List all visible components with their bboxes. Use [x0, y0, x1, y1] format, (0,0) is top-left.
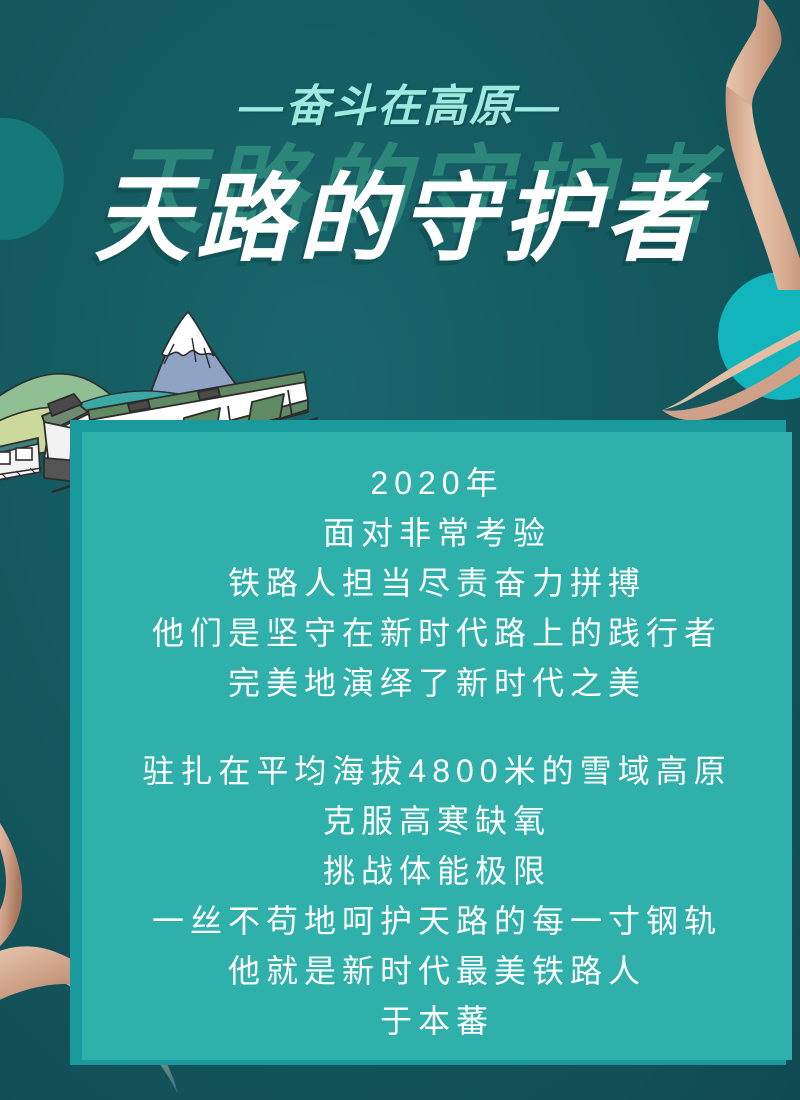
body-line: 他就是新时代最美铁路人 [82, 946, 792, 996]
body-line: 挑战体能极限 [82, 846, 792, 896]
text-panel: 2020年 面对非常考验 铁路人担当尽责奋力拼搏 他们是坚守在新时代路上的践行者… [82, 432, 792, 1060]
body-line: 驻扎在平均海拔4800米的雪域高原 [82, 746, 792, 796]
body-line: 克服高寒缺氧 [82, 796, 792, 846]
body-line: 一丝不苟地呵护天路的每一寸钢轨 [82, 896, 792, 946]
body-line: 他们是坚守在新时代路上的践行者 [82, 608, 792, 658]
paragraph-gap [82, 708, 792, 746]
body-line: 面对非常考验 [82, 508, 792, 558]
body-line: 完美地演绎了新时代之美 [82, 658, 792, 708]
body-line-signature: 于本蕃 [82, 996, 792, 1046]
poster-subtitle: —奋斗在高原— [0, 70, 800, 134]
page-title: 天路的守护者 [0, 170, 800, 271]
poster-title-wrap: 天路的守护者 天路的守护者 [0, 140, 800, 290]
body-line: 2020年 [82, 458, 792, 508]
poster-canvas: —奋斗在高原— 天路的守护者 天路的守护者 [0, 0, 800, 1100]
panel-text-block: 2020年 面对非常考验 铁路人担当尽责奋力拼搏 他们是坚守在新时代路上的践行者… [82, 458, 792, 1046]
circle-right-decoration [718, 272, 800, 400]
body-line: 铁路人担当尽责奋力拼搏 [82, 558, 792, 608]
